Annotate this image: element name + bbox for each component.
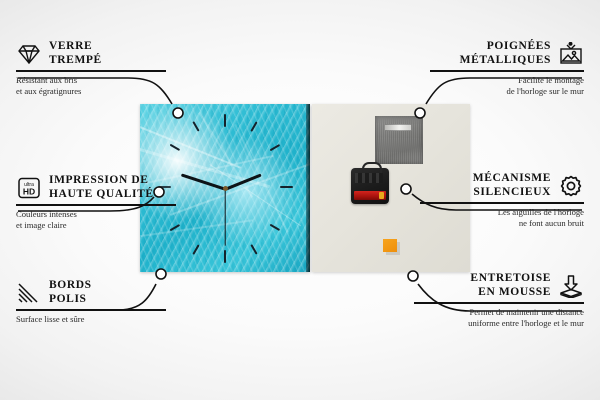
foam-spacer — [383, 239, 397, 252]
hanging-frame-icon — [558, 42, 584, 66]
feature-impression-haute-qualite: ultra HD IMPRESSION DE HAUTE QUALITÉ Cou… — [16, 174, 176, 232]
mechanism-hanger-loop — [362, 162, 382, 173]
title-rule — [420, 202, 584, 204]
feature-title: POIGNÉES MÉTALLIQUES — [460, 40, 551, 67]
feature-desc: Facilite le montage de l'horloge sur le … — [430, 75, 584, 98]
feature-poignees-metalliques: POIGNÉES MÉTALLIQUES Facilite le montage… — [430, 40, 584, 98]
mechanism-battery — [354, 191, 386, 200]
ultra-hd-bottom-text: HD — [23, 186, 35, 196]
polished-edges-icon — [16, 281, 42, 305]
feature-title: MÉCANISME SILENCIEUX — [473, 172, 551, 199]
feature-desc: Permet de maintenir une distance uniform… — [414, 307, 584, 330]
gear-icon — [558, 174, 584, 198]
feature-desc: Les aiguilles de l'horloge ne font aucun… — [420, 207, 584, 230]
feature-verre-trempe: VERRE TREMPÉ Résistant aux bris et aux é… — [16, 40, 166, 98]
clock-minute-hand — [181, 174, 226, 191]
clock-mechanism — [351, 168, 389, 204]
feature-title: ENTRETOISE EN MOUSSE — [470, 272, 551, 299]
ultra-hd-icon: ultra HD — [16, 176, 42, 200]
title-rule — [16, 309, 166, 311]
title-rule — [430, 70, 584, 72]
feature-desc: Surface lisse et sûre — [16, 314, 166, 326]
feature-bords-polis: BORDS POLIS Surface lisse et sûre — [16, 279, 166, 325]
feature-entretoise-en-mousse: ENTRETOISE EN MOUSSE Permet de maintenir… — [414, 272, 584, 330]
diamond-icon — [16, 42, 42, 66]
title-rule — [16, 70, 166, 72]
clock-second-hand — [224, 189, 225, 246]
infographic-canvas: VERRE TREMPÉ Résistant aux bris et aux é… — [0, 0, 600, 400]
feature-title: VERRE TREMPÉ — [49, 40, 102, 67]
hanger-slot — [384, 124, 412, 131]
feature-mecanisme-silencieux: MÉCANISME SILENCIEUX Les aiguilles de l'… — [420, 172, 584, 230]
feature-desc: Résistant aux bris et aux égratignures — [16, 75, 166, 98]
mechanism-detail — [355, 173, 383, 183]
title-rule — [16, 204, 176, 206]
clock-hour-hand — [224, 174, 261, 192]
foam-spacer-icon — [558, 274, 584, 298]
feature-title: IMPRESSION DE HAUTE QUALITÉ — [49, 174, 154, 201]
feature-title: BORDS POLIS — [49, 279, 92, 306]
feature-desc: Couleurs intenses et image claire — [16, 209, 176, 232]
metal-hanger-plate — [375, 116, 423, 164]
title-rule — [414, 302, 584, 304]
